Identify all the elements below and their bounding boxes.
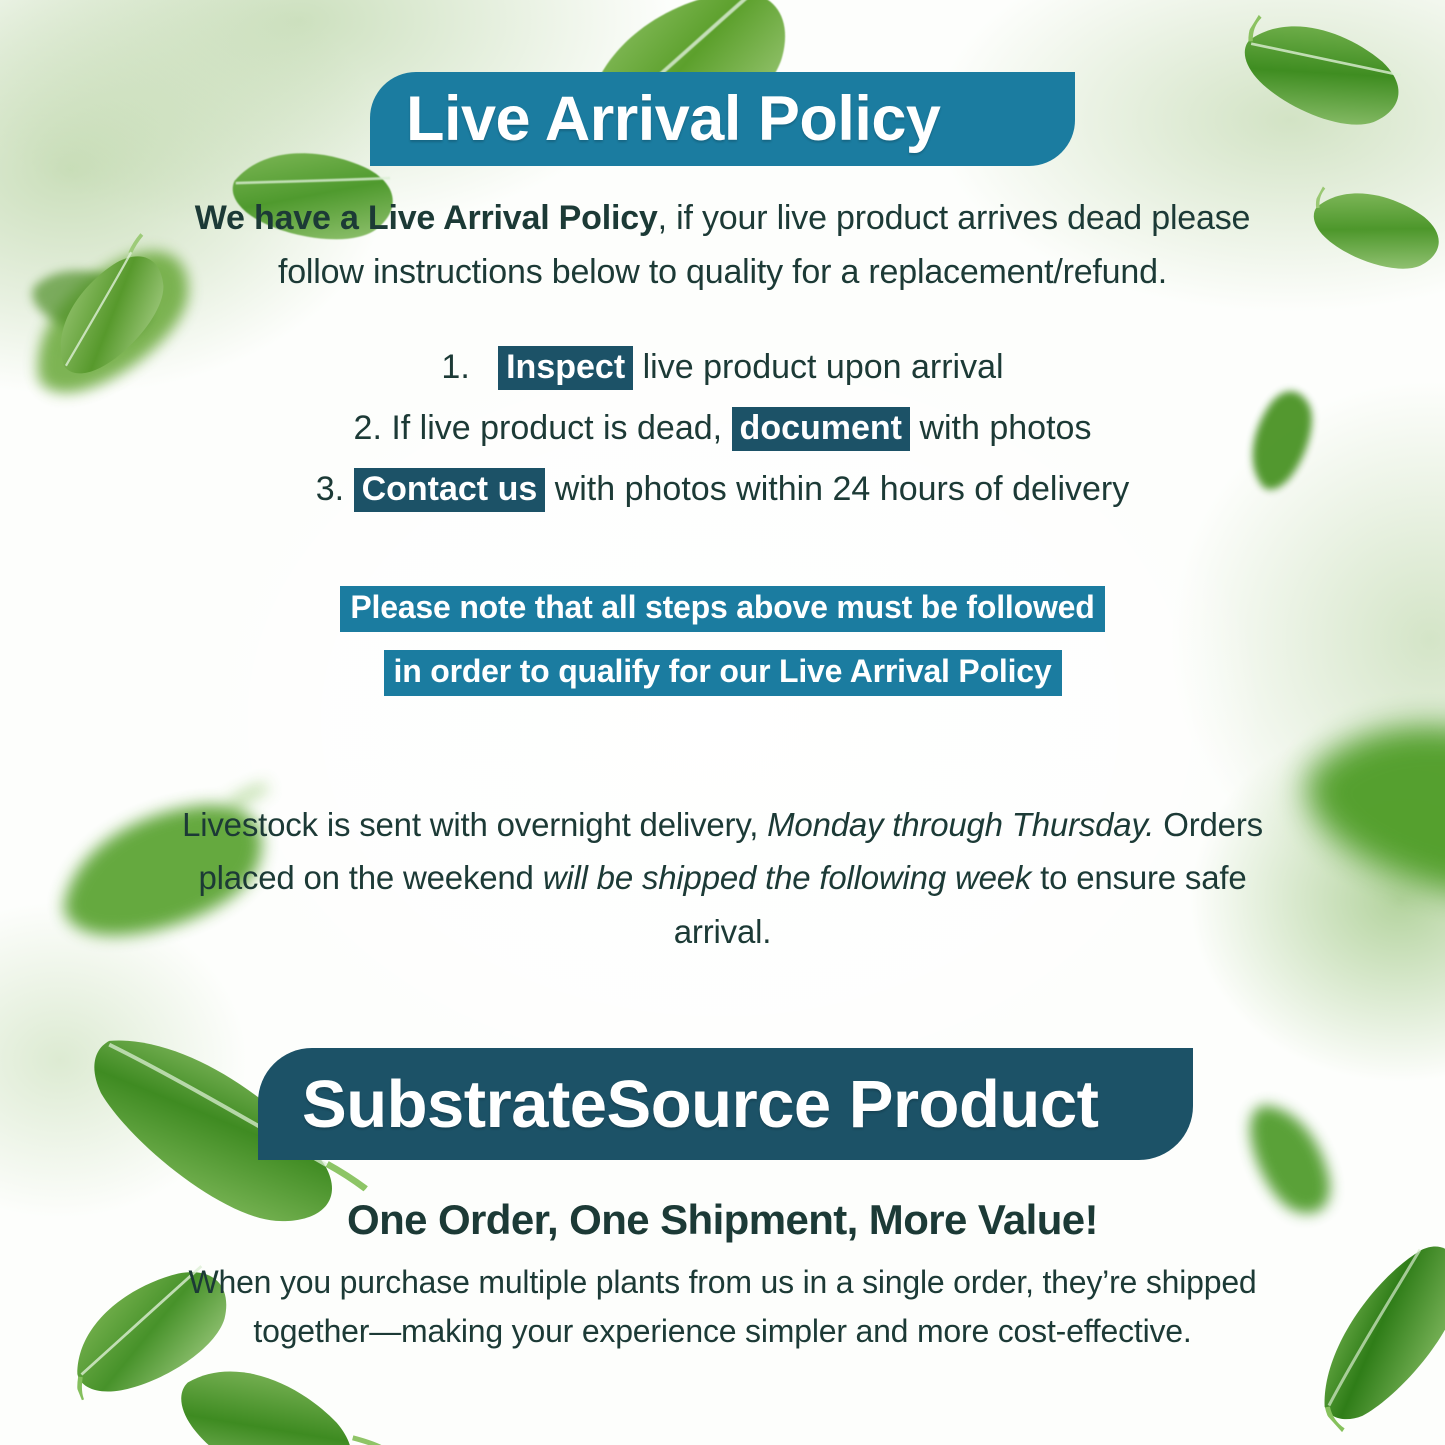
step-number: 3. xyxy=(316,470,344,508)
shipping-schedule-paragraph: Livestock is sent with overnight deliver… xyxy=(175,798,1270,958)
substratesource-product-banner: SubstrateSource Product xyxy=(258,1048,1193,1160)
intro-bold-lead: We have a Live Arrival Policy xyxy=(195,199,658,237)
shipping-line1-plain: Livestock is sent with overnight deliver… xyxy=(182,806,767,843)
policy-note-line-2: in order to qualify for our Live Arrival… xyxy=(384,650,1062,696)
step-highlight-inspect: Inspect xyxy=(498,346,633,390)
shipping-line2-italic: will be shipped the following week xyxy=(543,859,1032,896)
leaf-icon xyxy=(1216,0,1431,176)
policy-note-block: Please note that all steps above must be… xyxy=(150,586,1295,696)
list-item: 1. Inspect live product upon arrival xyxy=(150,348,1295,387)
step-highlight-contact-us[interactable]: Contact us xyxy=(354,468,546,512)
step-number: 2. xyxy=(354,409,382,447)
list-item: 3. Contact us with photos within 24 hour… xyxy=(150,470,1295,509)
intro-line2: instructions below to quality for a repl… xyxy=(373,253,1167,291)
leaf-icon xyxy=(1293,155,1445,309)
step-number: 1. xyxy=(441,348,469,386)
value-body-line-2: together—making your experience simpler … xyxy=(253,1313,1191,1349)
list-item: 2. If live product is dead, document wit… xyxy=(150,409,1295,448)
value-heading: One Order, One Shipment, More Value! xyxy=(150,1196,1295,1244)
live-arrival-policy-banner-label: Live Arrival Policy xyxy=(406,83,940,155)
intro-paragraph: We have a Live Arrival Policy, if your l… xyxy=(150,192,1295,299)
shipping-line1-italic: Monday through Thursday. xyxy=(767,806,1154,843)
live-arrival-policy-banner: Live Arrival Policy xyxy=(370,72,1075,166)
value-body-line-1: When you purchase multiple plants from u… xyxy=(188,1264,1256,1300)
live-arrival-policy-poster: Live Arrival Policy We have a Live Arriv… xyxy=(0,0,1445,1445)
step-text: with photos within 24 hours of delivery xyxy=(555,470,1130,508)
step-highlight-document: document xyxy=(732,407,910,451)
step-pre-text: If live product is dead, xyxy=(391,409,722,447)
note-spacer xyxy=(150,632,1295,650)
step-text: live product upon arrival xyxy=(643,348,1004,386)
policy-steps-list: 1. Inspect live product upon arrival 2. … xyxy=(150,348,1295,531)
value-body-paragraph: When you purchase multiple plants from u… xyxy=(165,1258,1280,1355)
substratesource-product-banner-label: SubstrateSource Product xyxy=(302,1066,1098,1143)
policy-note-line-1: Please note that all steps above must be… xyxy=(340,586,1104,632)
leaf-icon xyxy=(14,236,171,376)
step-text: with photos xyxy=(919,409,1091,447)
